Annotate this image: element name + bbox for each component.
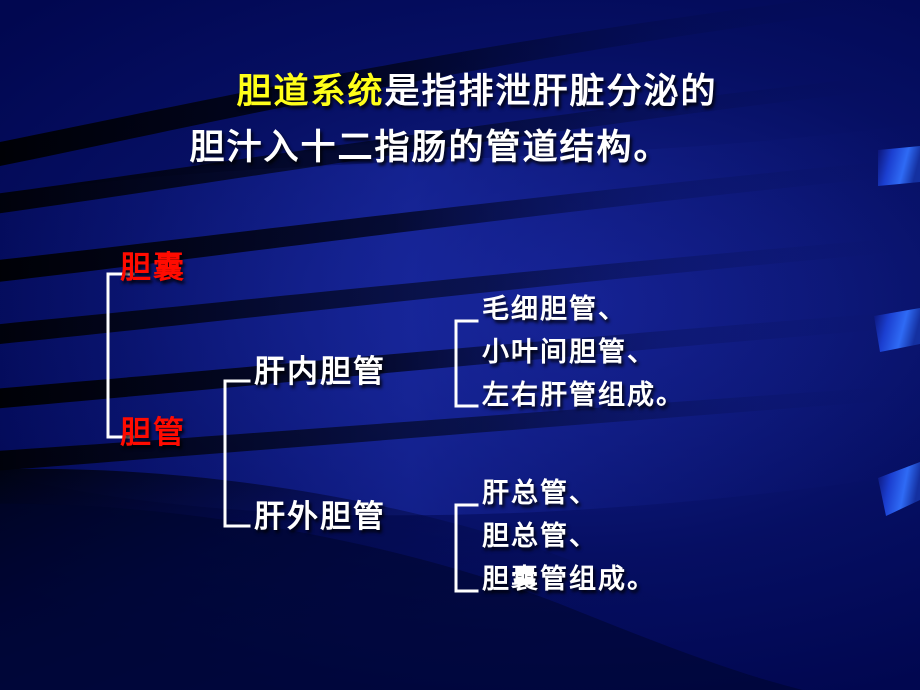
presentation-slide: 胆道系统是指排泄肝脏分泌的 胆汁入十二指肠的管道结构。 胆囊 胆管 肝 (0, 0, 920, 690)
label-extrahepatic-duct: 肝外胆管 (254, 500, 386, 534)
headline-line-1-rest: 是指排泄肝脏分泌的 (385, 72, 718, 112)
bracket-extrahepatic (456, 505, 477, 591)
list-intrahepatic-components: 毛细胆管、 小叶间胆管、 左右肝管组成。 (482, 288, 685, 417)
headline-highlight-term: 胆道系统 (236, 72, 384, 112)
bracket-intrahepatic (456, 321, 477, 406)
list-item: 毛细胆管、 (482, 288, 685, 331)
list-item: 胆总管、 (482, 515, 656, 558)
list-item: 肝总管、 (482, 472, 656, 515)
label-bile-duct: 胆管 (120, 416, 186, 450)
slide-headline: 胆道系统是指排泄肝脏分泌的 胆汁入十二指肠的管道结构。 (0, 64, 920, 176)
headline-line-1: 胆道系统是指排泄肝脏分泌的 (0, 64, 920, 120)
label-intrahepatic-duct: 肝内胆管 (254, 355, 386, 389)
headline-line-2: 胆汁入十二指肠的管道结构。 (0, 120, 920, 176)
bracket-main (108, 274, 133, 437)
label-gallbladder: 胆囊 (120, 251, 186, 285)
list-item: 胆囊管组成。 (482, 558, 656, 601)
list-item: 左右肝管组成。 (482, 374, 685, 417)
bracket-bile-duct (225, 381, 249, 526)
list-extrahepatic-components: 肝总管、 胆总管、 胆囊管组成。 (482, 472, 656, 601)
list-item: 小叶间胆管、 (482, 331, 685, 374)
